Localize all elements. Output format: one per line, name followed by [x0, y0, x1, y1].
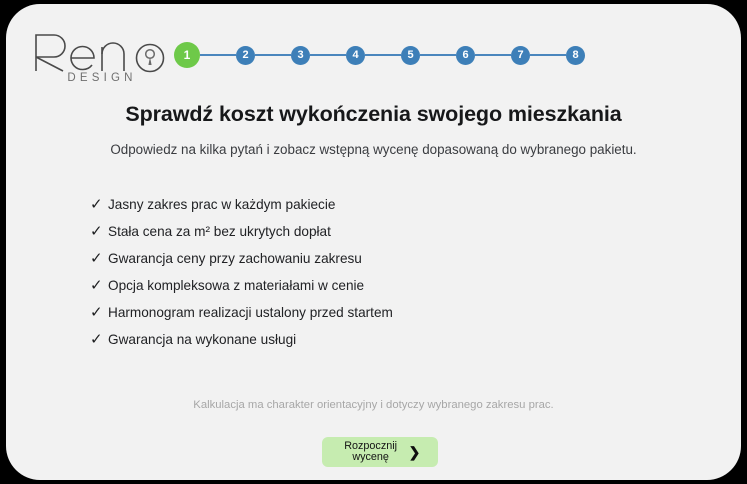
- start-quote-label: Rozpocznij wycenę: [340, 441, 402, 464]
- check-icon: ✓: [90, 251, 108, 266]
- page-title: Sprawdź koszt wykończenia swojego mieszk…: [6, 102, 741, 127]
- step-connector: [310, 54, 346, 56]
- check-icon: ✓: [90, 197, 108, 212]
- list-item: ✓ Jasny zakres prac w każdym pakiecie: [90, 197, 550, 224]
- step-indicator-1[interactable]: 1: [174, 42, 200, 68]
- brand-logo: DESIGN: [32, 30, 172, 88]
- step-connector: [255, 54, 291, 56]
- check-icon: ✓: [90, 278, 108, 293]
- benefits-list: ✓ Jasny zakres prac w każdym pakiecie ✓ …: [90, 197, 550, 359]
- step-indicator-5[interactable]: 5: [401, 46, 420, 65]
- step-connector: [365, 54, 401, 56]
- list-item: ✓ Stała cena za m² bez ukrytych dopłat: [90, 224, 550, 251]
- check-icon: ✓: [90, 305, 108, 320]
- step-indicator-7[interactable]: 7: [511, 46, 530, 65]
- step-indicator-3[interactable]: 3: [291, 46, 310, 65]
- disclaimer-text: Kalkulacja ma charakter orientacyjny i d…: [6, 399, 741, 411]
- benefit-label: Gwarancja na wykonane usługi: [108, 332, 296, 347]
- benefit-label: Gwarancja ceny przy zachowaniu zakresu: [108, 251, 362, 266]
- brand-tagline: DESIGN: [32, 72, 172, 84]
- benefit-label: Harmonogram realizacji ustalony przed st…: [108, 305, 393, 320]
- chevron-right-icon: ❯: [409, 445, 421, 459]
- step-connector: [420, 54, 456, 56]
- quote-wizard-card: DESIGN 1 2 3 4 5 6 7 8 Sprawdź koszt wyk…: [6, 4, 741, 480]
- page-subtitle: Odpowiedz na kilka pytań i zobacz wstępn…: [6, 142, 741, 157]
- step-connector: [200, 54, 236, 56]
- list-item: ✓ Gwarancja ceny przy zachowaniu zakresu: [90, 251, 550, 278]
- keyhole-icon: [146, 50, 155, 65]
- step-indicator-4[interactable]: 4: [346, 46, 365, 65]
- check-icon: ✓: [90, 224, 108, 239]
- list-item: ✓ Harmonogram realizacji ustalony przed …: [90, 305, 550, 332]
- list-item: ✓ Opcja kompleksowa z materiałami w ceni…: [90, 278, 550, 305]
- benefit-label: Stała cena za m² bez ukrytych dopłat: [108, 224, 331, 239]
- reno-wordmark-icon: [32, 30, 172, 74]
- step-connector: [475, 54, 511, 56]
- start-quote-button[interactable]: Rozpocznij wycenę ❯: [322, 437, 438, 467]
- list-item: ✓ Gwarancja na wykonane usługi: [90, 332, 550, 359]
- check-icon: ✓: [90, 332, 108, 347]
- benefit-label: Opcja kompleksowa z materiałami w cenie: [108, 278, 364, 293]
- step-indicator-6[interactable]: 6: [456, 46, 475, 65]
- step-connector: [530, 54, 566, 56]
- benefit-label: Jasny zakres prac w każdym pakiecie: [108, 197, 335, 212]
- progress-stepper: 1 2 3 4 5 6 7 8: [174, 40, 585, 70]
- step-indicator-2[interactable]: 2: [236, 46, 255, 65]
- step-indicator-8[interactable]: 8: [566, 46, 585, 65]
